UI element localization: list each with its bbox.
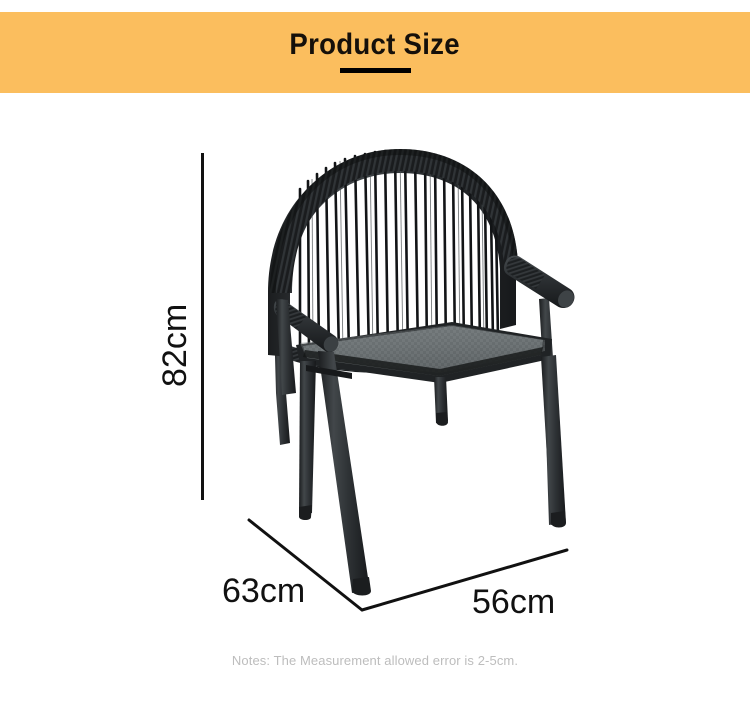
chair-front-leg-center (318, 351, 370, 593)
chair-rear-leg-right-foot (551, 511, 566, 528)
depth-dimension-label: 63cm (222, 572, 305, 611)
product-size-infographic: Product Size (0, 0, 750, 701)
chair-front-leg-center-foot (352, 577, 371, 596)
title-underline (340, 68, 411, 73)
measurement-note: Notes: The Measurement allowed error is … (0, 653, 750, 668)
width-dimension-label: 56cm (472, 583, 555, 622)
illustration-stage (0, 93, 750, 653)
chair-front-leg-left-foot (299, 505, 312, 520)
page-title: Product Size (290, 28, 460, 62)
chair-mid-leg-foot (436, 412, 448, 426)
header-band: Product Size (0, 12, 750, 93)
height-dimension-label: 82cm (152, 186, 191, 269)
chair-backrest-top-rail (270, 149, 518, 293)
chair-illustration (268, 149, 577, 596)
chair-rear-leg-right-lower (541, 355, 566, 525)
chair-diagram (0, 93, 750, 653)
chair-front-leg-left (299, 361, 316, 515)
